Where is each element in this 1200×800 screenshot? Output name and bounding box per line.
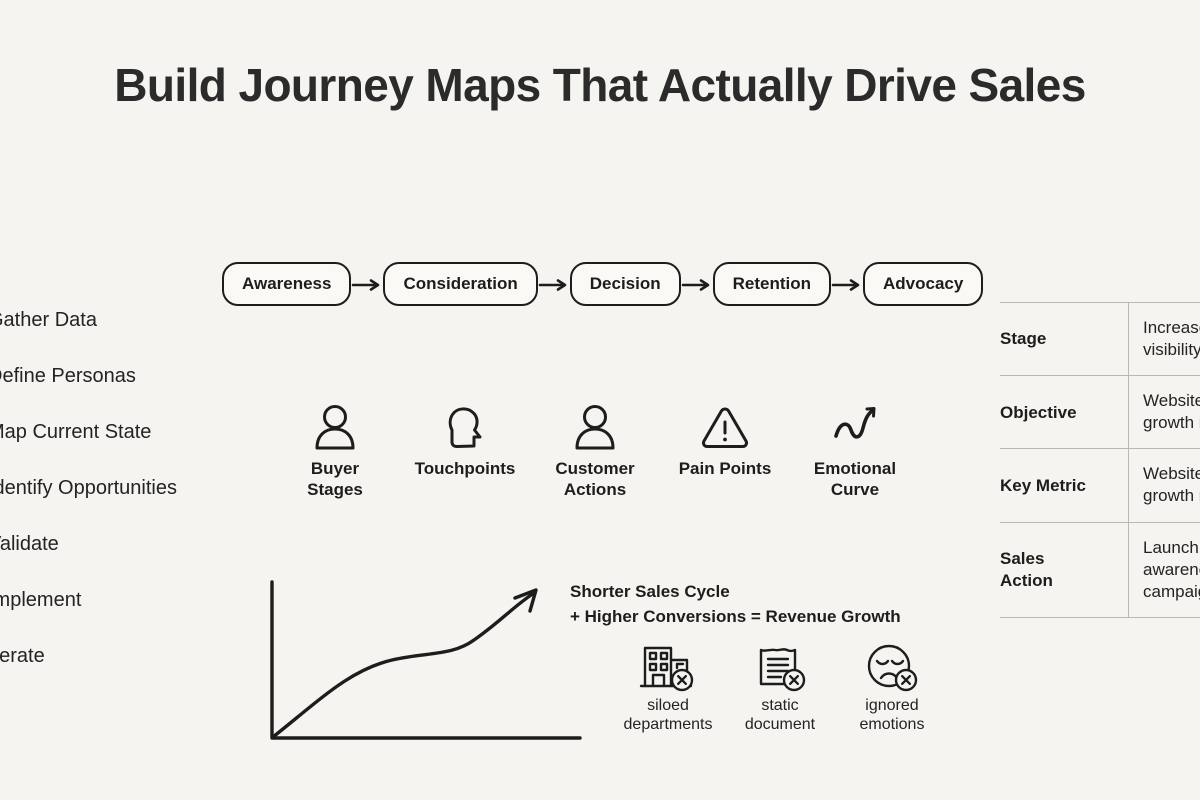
outcome-line-2: + Higher Conversions = Revenue Growth	[570, 605, 901, 630]
checklist-item-label: Iterate	[0, 645, 45, 667]
map-component[interactable]: Touchpoints	[400, 404, 530, 479]
table-row-key: SalesAction	[1000, 522, 1129, 617]
journey-stage-pipeline: AwarenessConsiderationDecisionRetentionA…	[222, 262, 983, 306]
stage-box[interactable]: Awareness	[222, 262, 351, 306]
arrow-right-icon	[351, 278, 383, 290]
pitfall-label: ignoredemotions	[860, 696, 925, 734]
checklist-item-label: Validate	[0, 533, 59, 555]
table-row: SalesActionLaunch tawarenecampaig	[1000, 522, 1200, 617]
checklist-item-label: Gather Data	[0, 309, 97, 331]
sad-face-icon	[863, 640, 921, 692]
checklist-item[interactable]: Map Current State	[0, 404, 228, 460]
outcome-statement: Shorter Sales Cycle + Higher Conversions…	[570, 580, 901, 629]
checklist-item[interactable]: Define Personas	[0, 348, 228, 404]
checklist-item[interactable]: Iterate	[0, 628, 228, 684]
checklist-item-label: Define Personas	[0, 365, 136, 387]
table-row-key: Objective	[1000, 376, 1129, 449]
person-icon	[573, 404, 617, 450]
table-row: Key MetricWebsitegrowth r	[1000, 449, 1200, 522]
checklist-item-label: Identify Opportunities	[0, 477, 177, 499]
stage-box-label: Awareness	[242, 274, 331, 294]
map-component-label: Touchpoints	[415, 458, 516, 479]
pitfall-row: siloeddepartmentsstaticdocumentignoredem…	[612, 640, 948, 734]
table-row-value: Websitegrowth r	[1129, 449, 1200, 522]
map-component-label: CustomerActions	[555, 458, 634, 501]
stage-box-label: Advocacy	[883, 274, 963, 294]
checklist-item[interactable]: Gather Data	[0, 292, 228, 348]
outcome-line-1: Shorter Sales Cycle	[570, 580, 901, 605]
map-component-label: Pain Points	[679, 458, 772, 479]
stage-detail-table-body: StageIncreasevisibilityObjectiveWebsiteg…	[1000, 303, 1200, 618]
stage-box[interactable]: Retention	[713, 262, 831, 306]
wave-curve-icon	[831, 404, 879, 450]
table-row-key: Stage	[1000, 303, 1129, 376]
checklist-item-label: Implement	[0, 589, 81, 611]
table-row-value: Increasevisibility	[1129, 303, 1200, 376]
pitfall-label: siloeddepartments	[624, 696, 713, 734]
table-row: ObjectiveWebsitegrowth r	[1000, 376, 1200, 449]
warning-triangle-icon	[701, 404, 749, 450]
pitfall-label: staticdocument	[745, 696, 815, 734]
checklist-item-label: Map Current State	[0, 421, 151, 443]
arrow-right-icon	[831, 278, 863, 290]
table-row-value: Launch tawarenecampaig	[1129, 522, 1200, 617]
head-profile-icon	[443, 404, 487, 450]
checklist-item[interactable]: Implement	[0, 572, 228, 628]
map-component-label: EmotionalCurve	[814, 458, 896, 501]
stage-box[interactable]: Advocacy	[863, 262, 983, 306]
table-row-value: Websitegrowth r	[1129, 376, 1200, 449]
page-title: Build Journey Maps That Actually Drive S…	[0, 58, 1200, 112]
infographic-canvas: Build Journey Maps That Actually Drive S…	[0, 0, 1200, 800]
pitfall-item: ignoredemotions	[836, 640, 948, 734]
stage-detail-table: StageIncreasevisibilityObjectiveWebsiteg…	[1000, 302, 1200, 618]
stage-box-label: Retention	[733, 274, 811, 294]
stage-box-label: Decision	[590, 274, 661, 294]
checklist-item[interactable]: Validate	[0, 516, 228, 572]
map-component[interactable]: EmotionalCurve	[790, 404, 920, 501]
table-row-key: Key Metric	[1000, 449, 1129, 522]
checklist-item[interactable]: Identify Opportunities	[0, 460, 228, 516]
person-icon	[313, 404, 357, 450]
map-component[interactable]: Pain Points	[660, 404, 790, 479]
s-curve-growth-icon	[262, 578, 582, 750]
map-component-label: BuyerStages	[307, 458, 363, 501]
building-icon	[639, 640, 697, 692]
pitfall-item: siloeddepartments	[612, 640, 724, 734]
stage-box[interactable]: Decision	[570, 262, 681, 306]
map-component[interactable]: CustomerActions	[530, 404, 660, 501]
table-row: StageIncreasevisibility	[1000, 303, 1200, 376]
arrow-right-icon	[538, 278, 570, 290]
stage-box-label: Consideration	[403, 274, 517, 294]
stage-box[interactable]: Consideration	[383, 262, 537, 306]
document-icon	[751, 640, 809, 692]
arrow-right-icon	[681, 278, 713, 290]
map-component-row: BuyerStagesTouchpointsCustomerActionsPai…	[270, 404, 920, 501]
map-component[interactable]: BuyerStages	[270, 404, 400, 501]
pitfall-item: staticdocument	[724, 640, 836, 734]
process-checklist: Gather DataDefine PersonasMap Current St…	[0, 292, 228, 684]
